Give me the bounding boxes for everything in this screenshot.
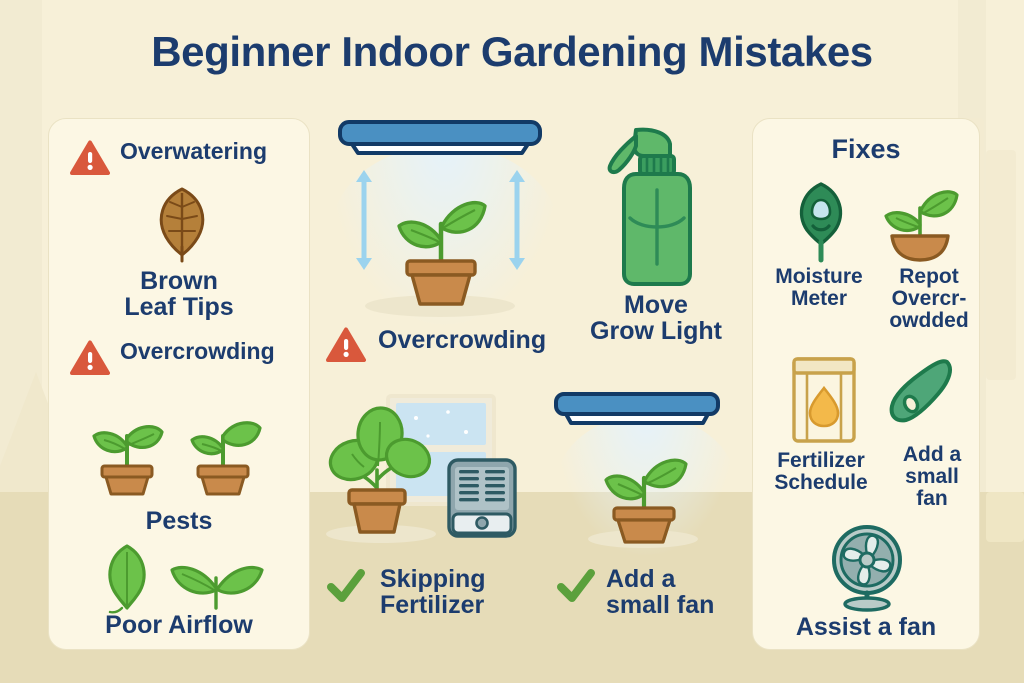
- spray-bottle-icon: [600, 122, 704, 298]
- two-potted-plants-icon: [178, 388, 268, 498]
- moisture-meter-leaf-icon: [789, 180, 853, 262]
- two-potted-plants-icon: [82, 388, 172, 498]
- fixes-panel-title: Fixes: [752, 134, 980, 165]
- mistake-label-pests: Pests: [58, 508, 300, 534]
- background-decor-rect: [986, 492, 1024, 542]
- infographic-canvas: Beginner Indoor Gardening Mistakes Overw…: [0, 0, 1024, 683]
- warning-triangle-icon: [70, 340, 110, 376]
- check-icon: [326, 566, 366, 606]
- grow-light-over-plant-icon: [385, 168, 497, 308]
- air-purifier-icon: [446, 457, 518, 539]
- grow-light-bar-icon: [552, 390, 722, 428]
- fix-label-add-small-fan: Add a small fan: [884, 444, 980, 509]
- center-label-overcrowding: Overcrowding: [378, 327, 546, 353]
- watering-spout-icon: [884, 356, 956, 438]
- two-leaves-icon: [96, 542, 158, 616]
- desk-fan-icon: [824, 524, 910, 612]
- fix-label-assist-a-fan: Assist a fan: [754, 614, 978, 640]
- distance-arrow-icon: [508, 168, 526, 272]
- check-icon: [556, 566, 596, 606]
- plant-window-purifier-icon: [322, 408, 434, 536]
- mistake-label-brown-leaf-tips: Brown Leaf Tips: [58, 268, 300, 320]
- mistake-label-overcrowding: Overcrowding: [120, 340, 275, 364]
- fix-label-repot-overcrowded: Repot Overcr- owdded: [876, 266, 982, 331]
- center-label-add-small-fan: Add a small fan: [606, 566, 714, 618]
- fix-label-moisture-meter: Moisture Meter: [764, 266, 874, 310]
- distance-arrow-icon: [355, 168, 373, 272]
- fertilizer-bag-icon: [790, 356, 858, 444]
- grow-light-over-plant-icon: [594, 438, 694, 544]
- brown-leaf-icon: [150, 185, 214, 263]
- mistake-label-poor-airflow: Poor Airflow: [58, 612, 300, 638]
- fix-label-fertilizer-schedule: Fertilizer Schedule: [762, 450, 880, 494]
- grow-light-bar-icon: [336, 118, 544, 158]
- page-title: Beginner Indoor Gardening Mistakes: [0, 28, 1024, 76]
- two-leaves-icon: [166, 544, 270, 616]
- center-label-move-grow-light: Move Grow Light: [568, 292, 744, 344]
- repot-plant-icon: [876, 180, 964, 262]
- mistake-label-overwatering: Overwatering: [120, 140, 267, 164]
- background-decor-rect: [986, 150, 1016, 380]
- warning-triangle-icon: [70, 140, 110, 176]
- center-label-skipping-fertilizer: Skipping Fertilizer: [380, 566, 486, 618]
- warning-triangle-icon: [326, 327, 366, 363]
